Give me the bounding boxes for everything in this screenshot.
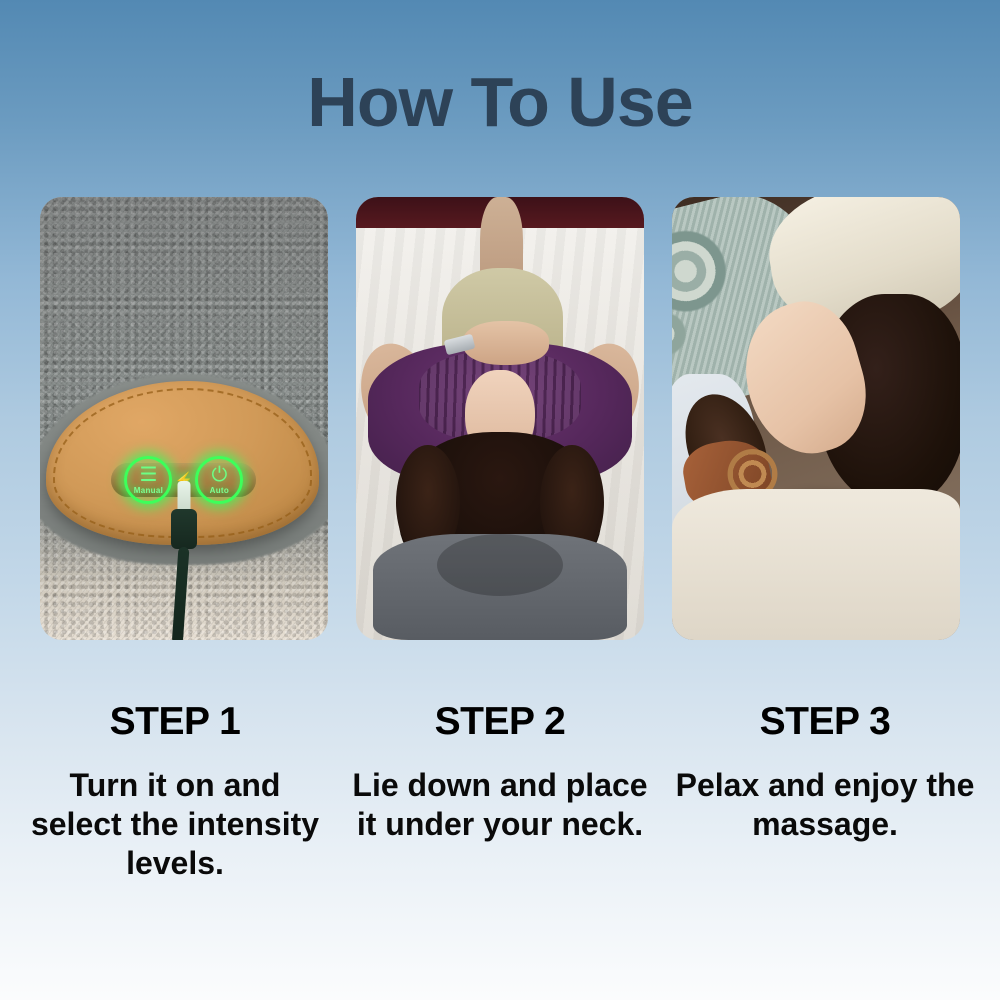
- how-to-use-infographic: How To Use ☰ Manual ⚡ ⏻ Auto: [0, 0, 1000, 1000]
- step-2-title: STEP 2: [345, 700, 655, 744]
- hands: [463, 321, 549, 365]
- auto-button-label: Auto: [210, 486, 229, 495]
- page-title: How To Use: [0, 62, 1000, 142]
- auto-button[interactable]: ⏻ Auto: [195, 456, 243, 504]
- step-2-description: Lie down and place it under your neck.: [345, 766, 655, 844]
- photo-card-lie-down: [356, 197, 644, 640]
- photo-card-row: ☰ Manual ⚡ ⏻ Auto: [40, 197, 960, 640]
- lightning-bolt-icon: ⚡: [175, 471, 194, 489]
- top-shadow-overlay: [40, 197, 328, 401]
- step-1-title: STEP 1: [20, 700, 330, 744]
- step-3: STEP 3 Pelax and enjoy the massage.: [670, 700, 980, 883]
- steps-row: STEP 1 Turn it on and select the intensi…: [20, 700, 980, 883]
- step-3-description: Pelax and enjoy the massage.: [670, 766, 980, 844]
- manual-button-label: Manual: [134, 486, 163, 495]
- photo-card-device-controls: ☰ Manual ⚡ ⏻ Auto: [40, 197, 328, 640]
- power-icon: ⏻: [211, 465, 227, 485]
- white-blanket: [672, 489, 960, 640]
- step-1-description: Turn it on and select the intensity leve…: [20, 766, 330, 883]
- control-panel: ☰ Manual ⚡ ⏻ Auto: [111, 463, 256, 497]
- manual-button[interactable]: ☰ Manual: [124, 456, 172, 504]
- cable-connector: [171, 509, 197, 549]
- photo-card-relax: [672, 197, 960, 640]
- step-3-title: STEP 3: [670, 700, 980, 744]
- vibration-icon: ☰: [139, 465, 157, 485]
- step-1: STEP 1 Turn it on and select the intensi…: [20, 700, 330, 883]
- massager-notch: [437, 534, 564, 596]
- step-2: STEP 2 Lie down and place it under your …: [345, 700, 655, 883]
